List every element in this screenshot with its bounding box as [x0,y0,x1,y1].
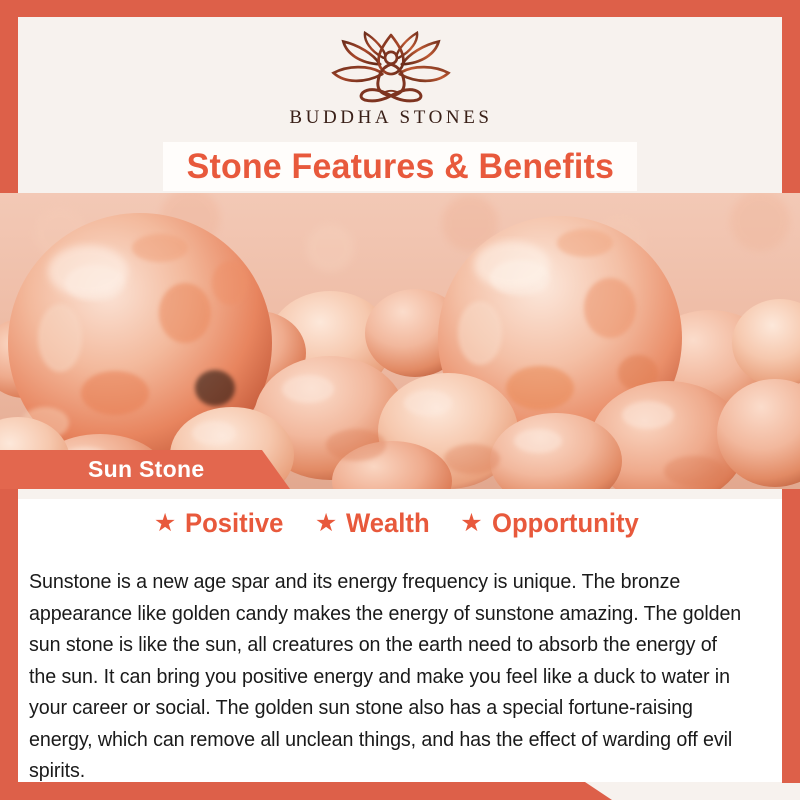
lotus-buddha-icon [326,31,456,103]
star-icon: ★ [315,511,337,536]
star-icon: ★ [460,511,482,536]
benefit-item: ★ Wealth [315,508,434,539]
benefit-item: ★ Opportunity [460,508,646,539]
panel-top-gap [18,489,782,499]
brand-name: BUDDHA STONES [289,107,492,129]
benefit-label: Wealth [346,508,430,539]
benefit-label: Positive [185,508,283,539]
frame-top-border [0,0,800,17]
sunstone-photo-illustration [0,193,800,489]
product-name-label: Sun Stone [88,456,204,483]
product-photo [0,193,800,489]
section-title: Stone Features & Benefits [186,147,613,187]
benefit-label: Opportunity [492,508,639,539]
benefits-row: ★ Positive ★ Wealth ★ Opportunity [18,508,782,539]
benefit-item: ★ Positive [154,508,289,539]
brand-header: BUDDHA STONES [0,17,782,142]
star-icon: ★ [154,511,176,536]
infographic-card: Sun Stone ★ Positive ★ Wealth ★ Opportun… [0,0,800,800]
section-title-box: Stone Features & Benefits [163,142,637,191]
description-text: Sunstone is a new age spar and its energ… [29,566,747,787]
product-name-banner: Sun Stone [0,450,290,489]
